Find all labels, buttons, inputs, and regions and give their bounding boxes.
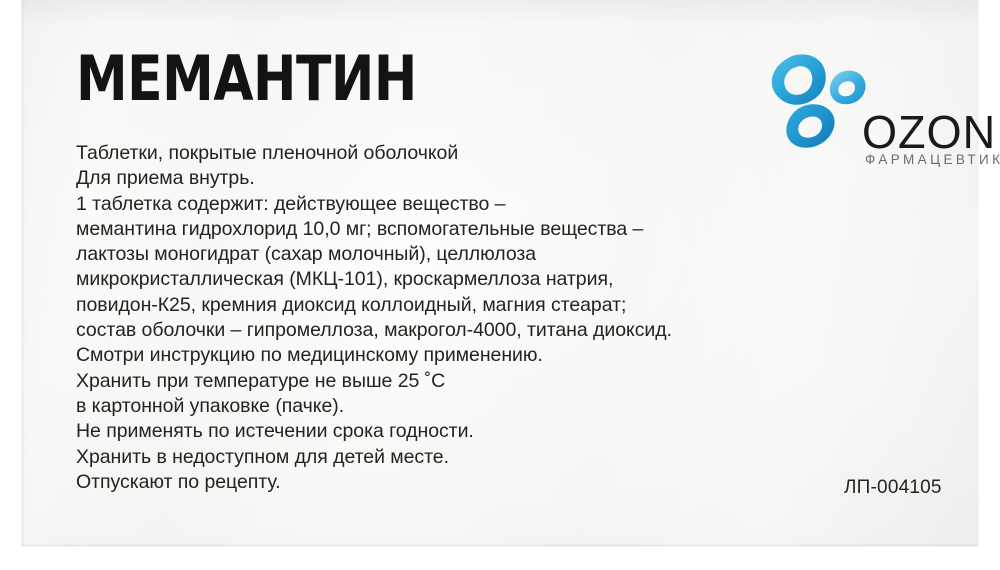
package-text-line: Хранить при температуре не выше 25 ˚С <box>76 369 836 394</box>
package-text-line: микрокристаллическая (МКЦ-101), кроскарм… <box>76 267 836 292</box>
medicine-carton-face: МЕМАНТИН Таблетки, покрытые пленочной об… <box>22 0 978 546</box>
package-photo: МЕМАНТИН Таблетки, покрытые пленочной об… <box>0 0 1000 570</box>
package-body-text: Таблетки, покрытые пленочной оболочкойДл… <box>76 141 836 495</box>
carton-top-shadow <box>22 0 978 26</box>
carton-bottom-edge-shadow <box>22 543 978 546</box>
ozon-logo: OZON ФАРМАЦЕВТИКА <box>766 52 982 170</box>
registration-number: ЛП-004105 <box>844 477 942 499</box>
carton-left-edge-shadow <box>22 0 25 546</box>
package-text-line: состав оболочки – гипромеллоза, макрогол… <box>76 318 836 343</box>
ozon-subtitle: ФАРМАЦЕВТИКА <box>865 152 1000 167</box>
package-text-line: мемантина гидрохлорид 10,0 мг; вспомогат… <box>76 217 836 242</box>
package-text-line: 1 таблетка содержит: действующее веществ… <box>76 192 836 217</box>
package-text-line: Отпускают по рецепту. <box>76 470 836 495</box>
package-text-line: Таблетки, покрытые пленочной оболочкой <box>76 141 836 166</box>
product-title: МЕМАНТИН <box>76 48 417 110</box>
ozon-cells-mark-icon <box>766 52 870 152</box>
package-text-line: Смотри инструкцию по медицинскому примен… <box>76 343 836 368</box>
package-text-line: Хранить в недоступном для детей месте. <box>76 445 836 470</box>
package-text-line: Не применять по истечении срока годности… <box>76 419 836 444</box>
ozon-wordmark: OZON <box>862 109 996 155</box>
package-text-line: в картонной упаковке (пачке). <box>76 394 836 419</box>
package-text-line: Для приема внутрь. <box>76 166 836 191</box>
package-text-line: повидон-К25, кремния диоксид коллоидный,… <box>76 293 836 318</box>
package-text-line: лактозы моногидрат (сахар молочный), цел… <box>76 242 836 267</box>
